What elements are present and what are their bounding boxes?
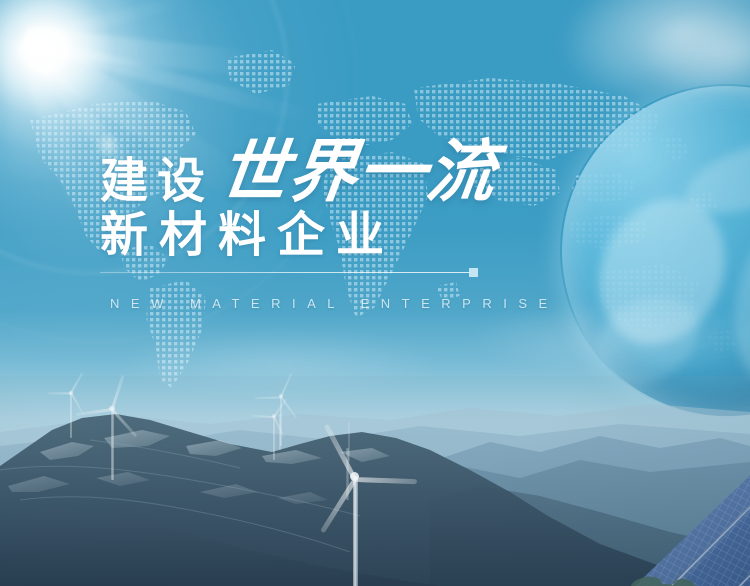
- headline-divider: [100, 268, 478, 277]
- divider-end-cap: [469, 268, 478, 277]
- solar-panel-array: [470, 440, 750, 586]
- divider-line: [100, 272, 470, 274]
- hero-banner: 建设 世界一流 新材料企业 NEW MATERIAL ENTERPRISE: [0, 0, 750, 586]
- headline-line-1: 建设 世界一流: [100, 128, 530, 206]
- headline-prefix: 建设: [100, 158, 214, 206]
- headline-block: 建设 世界一流 新材料企业: [100, 128, 530, 260]
- cloud-wisp: [640, 10, 750, 90]
- headline-emphasis: 世界一流: [216, 138, 500, 206]
- subtitle-text: NEW MATERIAL ENTERPRISE: [110, 296, 559, 311]
- headline-line-2: 新材料企业: [100, 212, 530, 260]
- globe-landmass: [676, 124, 750, 227]
